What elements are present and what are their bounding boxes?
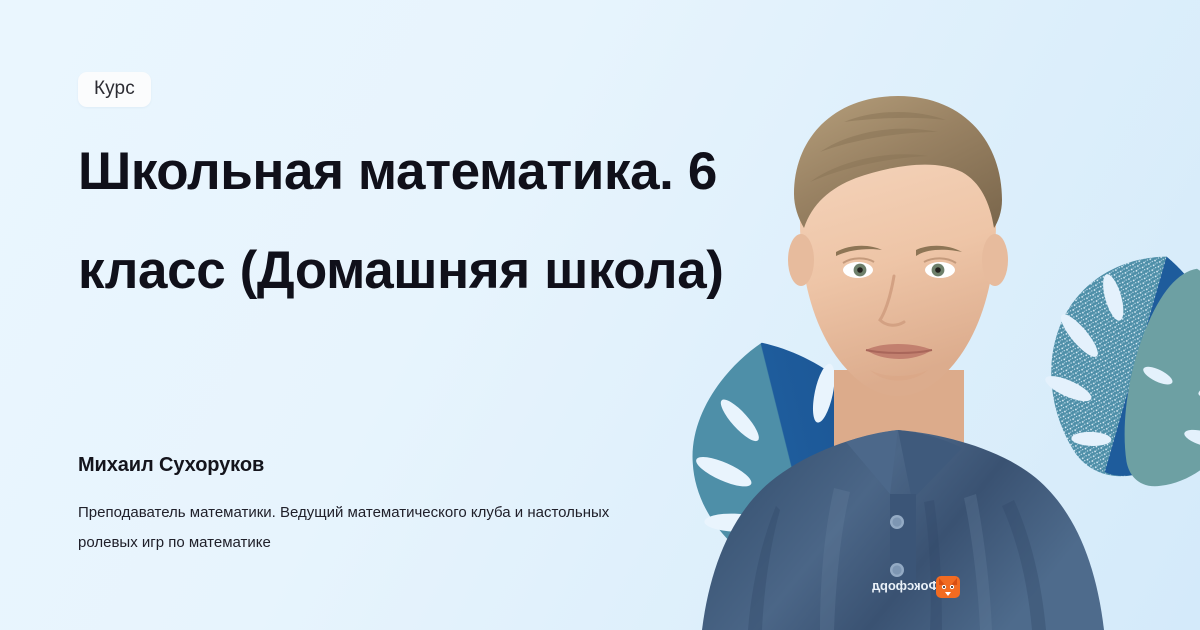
course-share-card: Фоксфорд Курс Школьная математика. 6 кла… <box>0 0 1200 630</box>
author-description: Преподаватель математики. Ведущий матема… <box>78 498 618 558</box>
card-content: Курс Школьная математика. 6 класс (Домаш… <box>78 0 838 630</box>
oval-leaf-right <box>1118 262 1200 492</box>
course-type-badge[interactable]: Курс <box>78 72 151 107</box>
fox-icon <box>936 576 960 598</box>
page-title: Школьная математика. 6 класс (Домашняя ш… <box>78 122 838 320</box>
brand-logo-text: Фоксфорд <box>871 578 939 593</box>
author-name: Михаил Сухоруков <box>78 452 264 478</box>
page-title-line-2: класс (Домашняя школа) <box>78 241 724 300</box>
page-title-line-1: Школьная математика. 6 <box>78 142 717 201</box>
